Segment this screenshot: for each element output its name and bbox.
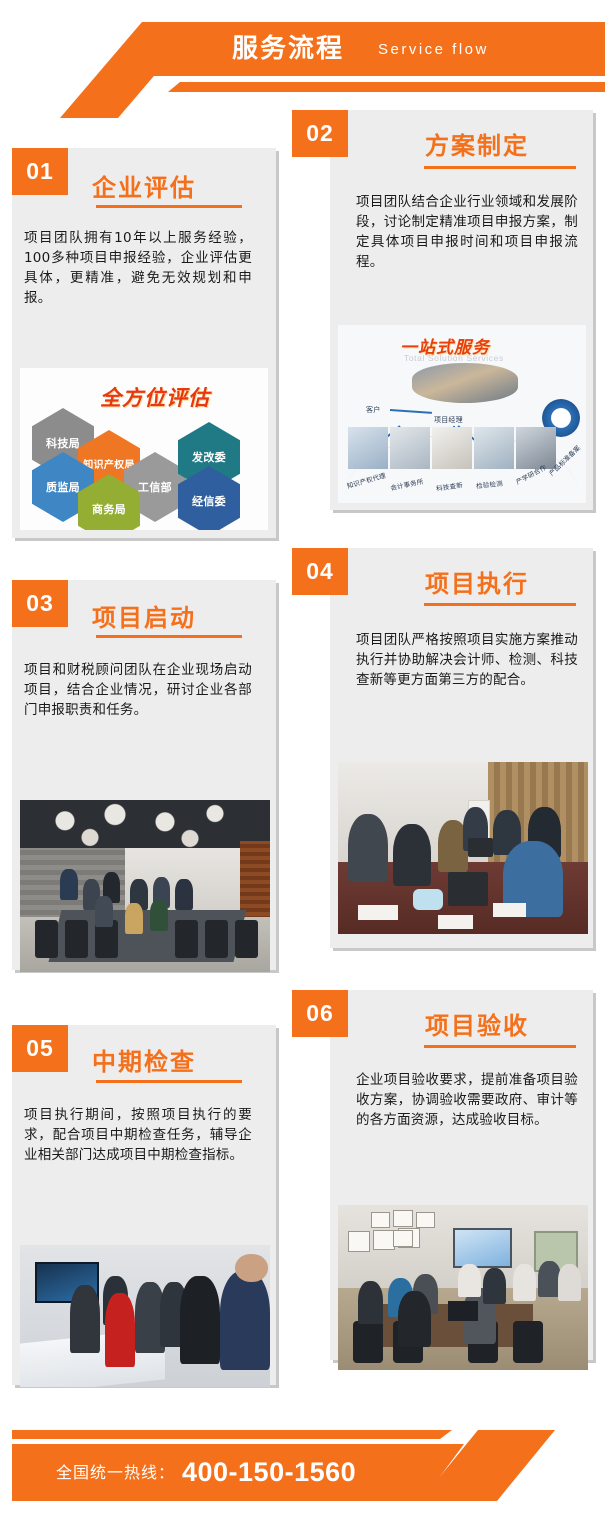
header-band <box>140 22 605 76</box>
hotline-label: 全国统一热线： <box>56 1460 175 1486</box>
step-number-badge-06: 06 <box>292 990 348 1037</box>
step-number-badge-05: 05 <box>12 1025 68 1072</box>
page-title: 服务流程 <box>232 30 344 68</box>
team-working-meeting-photo <box>338 762 588 934</box>
step-title-06: 项目验收 <box>425 1006 529 1041</box>
photo-content-05 <box>20 1245 270 1387</box>
step-title-05: 中期检查 <box>92 1042 196 1077</box>
step-body-02: 项目团队结合企业行业领域和发展阶段，讨论制定精准项目申报方案，制定具体项目申报时… <box>356 192 578 272</box>
page-subtitle: Service flow <box>378 38 489 62</box>
photo-content-06 <box>338 1205 588 1370</box>
step-number-badge-02: 02 <box>292 110 348 157</box>
step-number-badge-04: 04 <box>292 548 348 595</box>
acceptance-review-meeting-photo <box>338 1205 588 1370</box>
service-tile-testing <box>474 427 514 469</box>
step-title-03: 项目启动 <box>92 598 196 633</box>
step-title-underline-02 <box>424 166 576 169</box>
photo-content-03 <box>20 800 270 972</box>
page-footer: 全国统一热线： 400-150-1560 <box>0 1420 605 1538</box>
flow-arrow-client <box>390 409 432 414</box>
conference-room-kickoff-photo <box>20 800 270 972</box>
service-tile-novelty <box>432 427 472 469</box>
step-body-04: 项目团队严格按照项目实施方案推动执行并协助解决会计师、检测、科技查新等更方面第三… <box>356 630 578 690</box>
step-title-underline-05 <box>96 1080 242 1083</box>
step-title-02: 方案制定 <box>425 126 529 161</box>
one-stop-manager-label: 项目经理 <box>434 415 463 425</box>
step-title-underline-01 <box>96 205 242 208</box>
one-stop-service-diagram: 一站式服务 Total Solution Services 客户 项目经理 知识… <box>338 325 586 503</box>
service-tile-accounting <box>390 427 430 469</box>
step-title-04: 项目执行 <box>425 564 529 599</box>
hexagon-chart-title: 全方位评估 <box>100 382 210 412</box>
service-tile-ip <box>348 427 388 469</box>
service-tile-industry-academia <box>516 427 556 469</box>
step-title-underline-06 <box>424 1045 576 1048</box>
step-title-underline-03 <box>96 635 242 638</box>
photo-content-04 <box>338 762 588 934</box>
step-body-06: 企业项目验收要求，提前准备项目验收方案，协调验收需要政府、审计等的各方面资源，达… <box>356 1070 578 1130</box>
step-title-01: 企业评估 <box>92 168 196 203</box>
step-body-03: 项目和财税顾问团队在企业现场启动项目，结合企业情况，研讨企业各部门申报职责和任务… <box>24 660 252 720</box>
step-body-01: 项目团队拥有10年以上服务经验，100多种项目申报经验，企业评估更具体，更精准，… <box>24 228 252 308</box>
comprehensive-assessment-hexagon-chart: 全方位评估 科技局 知识产权局 质监局 工信部 商务局 发改委 经信委 <box>20 368 268 530</box>
step-body-05: 项目执行期间，按照项目执行的要求，配合项目中期检查任务，辅导企业相关部门达成项目… <box>24 1105 252 1165</box>
one-stop-service-team-photo <box>412 363 518 403</box>
one-stop-service-subtitle: Total Solution Services <box>404 353 504 363</box>
onsite-inspection-photo <box>20 1245 270 1387</box>
step-number-badge-03: 03 <box>12 580 68 627</box>
step-title-underline-04 <box>424 603 576 606</box>
hotline-number[interactable]: 400-150-1560 <box>182 1453 356 1491</box>
footer-stripe-decoration <box>12 1430 452 1439</box>
page-header: 服务流程 Service flow <box>0 0 605 118</box>
header-stripe-decoration <box>168 82 605 92</box>
step-number-badge-01: 01 <box>12 148 68 195</box>
one-stop-client-label: 客户 <box>366 405 380 415</box>
